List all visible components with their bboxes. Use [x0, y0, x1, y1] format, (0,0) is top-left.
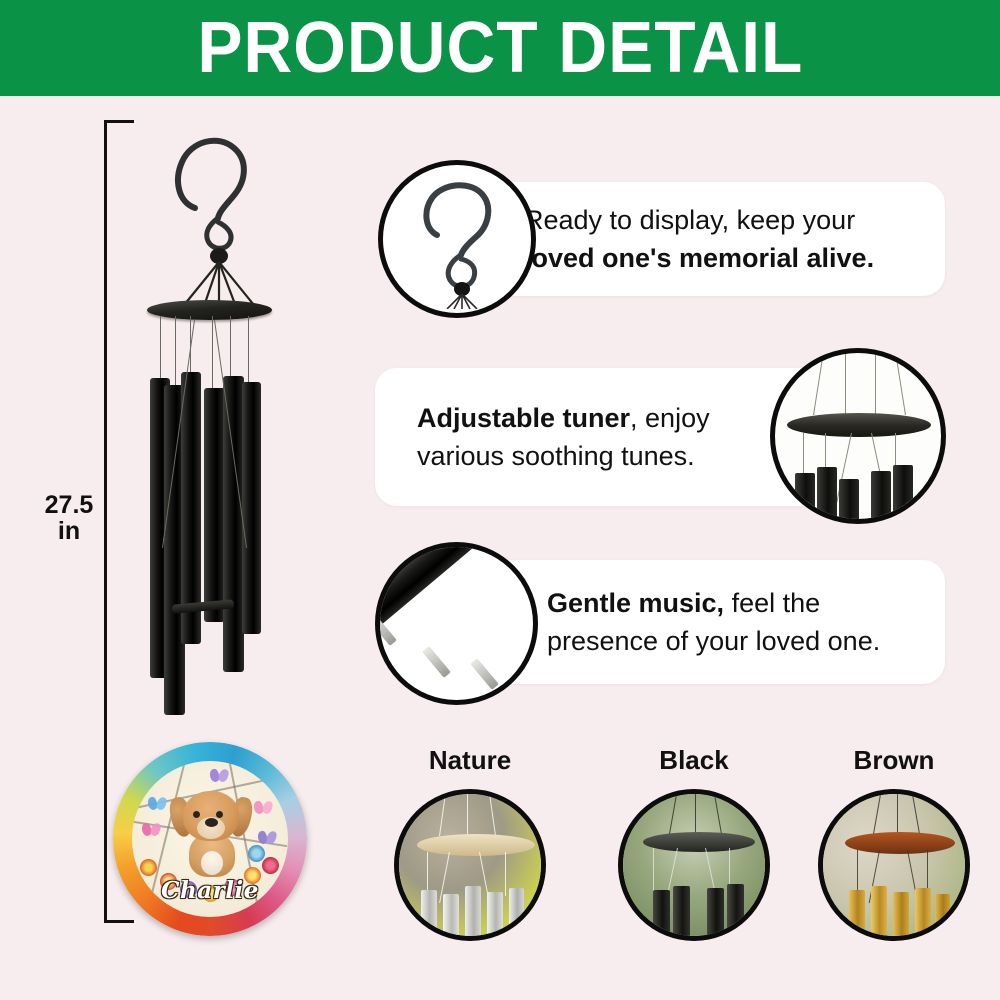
butterfly-icon — [142, 823, 160, 837]
s-hook-icon — [417, 181, 509, 309]
tube-string — [248, 316, 249, 384]
tuner-string — [845, 353, 846, 415]
measurement-label: 27.5 in — [38, 492, 100, 544]
variant-brown[interactable]: Brown — [818, 745, 970, 941]
variant-tube — [509, 888, 524, 941]
tube-string — [160, 316, 161, 382]
tuner-disc — [787, 413, 931, 437]
ruler-line — [104, 120, 107, 923]
butterfly-icon — [210, 769, 228, 783]
page-header-banner: PRODUCT DETAIL — [0, 0, 1000, 96]
product-detail-page: PRODUCT DETAIL 27.5 in — [0, 0, 1000, 1000]
variant-black[interactable]: Black — [618, 745, 770, 941]
variant-tube — [421, 890, 437, 941]
black-variant-photo[interactable] — [618, 789, 770, 941]
measurement-value: 27.5 — [38, 492, 100, 518]
feature-2-bold: Adjustable tuner — [417, 403, 630, 433]
brown-variant-photo[interactable] — [818, 789, 970, 941]
feature-2-regular: , enjoy — [630, 403, 710, 433]
dog-chest — [201, 851, 223, 875]
variant-tube — [673, 886, 690, 941]
variant-tube — [871, 886, 887, 941]
variant-tube — [727, 884, 744, 941]
stained-glass-ornament: Charlie — [113, 742, 307, 936]
variant-tube — [935, 894, 950, 941]
wood-disc-icon — [147, 300, 272, 320]
feature-1-line2: loved one's memorial alive. — [524, 243, 874, 273]
variant-label: Black — [618, 745, 770, 775]
measurement-unit: in — [38, 518, 100, 544]
page-title: PRODUCT DETAIL — [197, 12, 803, 84]
variant-string — [695, 794, 696, 834]
feature-1-text: Ready to display, keep your loved one's … — [524, 201, 874, 277]
tuner-string — [895, 354, 906, 415]
variant-tube — [849, 890, 865, 941]
tube-string — [175, 316, 176, 388]
feature-2-line2: various soothing tunes. — [417, 437, 710, 475]
variant-label: Nature — [394, 745, 546, 775]
tubes-closeup-photo — [375, 542, 538, 705]
variant-top-disc — [417, 834, 535, 856]
tuner-string — [813, 354, 824, 415]
variant-tube — [707, 888, 724, 941]
tube-string — [230, 316, 231, 380]
feature-3-regular: feel the — [724, 588, 820, 618]
tuner-tube — [817, 467, 837, 524]
dog-nose — [205, 818, 218, 827]
hook-closeup-photo — [378, 160, 536, 318]
variant-nature[interactable]: Nature — [394, 745, 546, 941]
variant-string — [505, 852, 506, 896]
variant-top-disc — [643, 832, 755, 852]
tube-string — [212, 316, 213, 390]
nature-variant-photo[interactable] — [394, 789, 546, 941]
feature-3-bold: Gentle music, — [547, 588, 724, 618]
dog-portrait — [175, 785, 247, 877]
tuner-closeup-photo — [770, 348, 946, 524]
tube-end-cap — [422, 646, 451, 678]
variant-tube — [915, 888, 931, 941]
variant-string — [897, 794, 898, 834]
variant-tube — [653, 890, 670, 941]
variant-string — [653, 848, 654, 894]
butterfly-icon — [148, 797, 166, 811]
variant-tube — [465, 886, 481, 941]
feature-3-line2: presence of your loved one. — [547, 622, 880, 660]
flower-icon — [248, 845, 265, 862]
dog-eye-left — [193, 811, 200, 818]
tuner-tube — [839, 479, 859, 524]
variant-string — [857, 850, 858, 894]
feature-2-text-bubble: Adjustable tuner, enjoy various soothing… — [375, 368, 830, 506]
tuner-string — [875, 353, 876, 415]
tuner-tube — [893, 465, 913, 524]
variant-string — [467, 794, 468, 836]
tuner-tube — [795, 473, 815, 524]
pet-name-text: Charlie — [132, 877, 288, 904]
variant-tube — [443, 894, 459, 941]
ornament-inner-panel: Charlie — [132, 761, 288, 917]
s-hook-icon — [140, 110, 290, 325]
chime-tube — [204, 388, 225, 622]
feature-3-text: Gentle music, feel the presence of your … — [547, 584, 880, 660]
variant-top-disc — [845, 832, 955, 854]
tube-end-cap — [470, 658, 499, 690]
feature-1-line1: Ready to display, keep your — [524, 201, 874, 239]
variant-label: Brown — [818, 745, 970, 775]
chime-tube — [242, 382, 261, 634]
flower-icon — [262, 857, 279, 874]
chime-tube — [223, 376, 244, 672]
dog-eye-right — [216, 811, 223, 818]
variant-tube — [487, 892, 503, 941]
feature-2-text: Adjustable tuner, enjoy various soothing… — [417, 399, 710, 475]
butterfly-icon — [258, 831, 276, 845]
tuner-tube — [871, 471, 891, 524]
butterfly-icon — [254, 801, 272, 815]
flower-icon — [140, 859, 157, 876]
variant-tube — [893, 892, 909, 941]
